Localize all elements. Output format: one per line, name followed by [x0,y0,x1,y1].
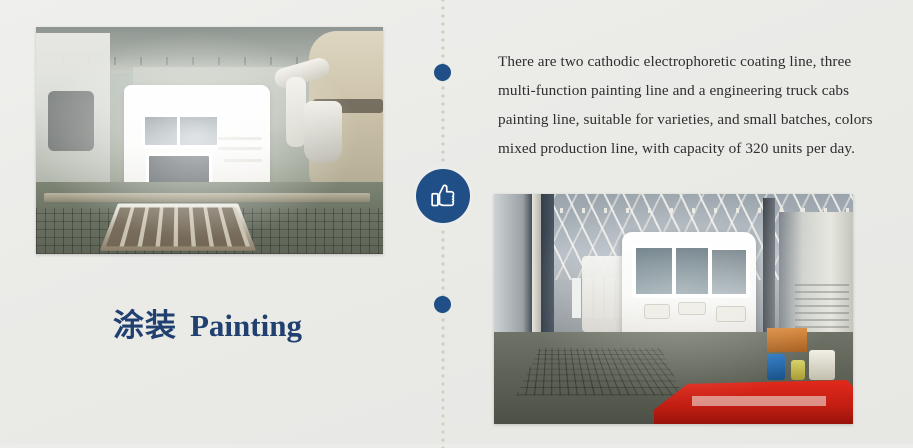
description-paragraph: There are two cathodic electrophoretic c… [498,47,890,163]
slide-canvas: There are two cathodic electrophoretic c… [0,0,913,444]
booth-paint-haze [36,27,383,254]
timeline-dot-top [434,64,451,81]
thumbs-up-badge[interactable] [416,169,470,223]
page-title-english: Painting [190,308,302,343]
timeline-dot-bottom [434,296,451,313]
right-photo-scene [494,194,853,424]
thumbs-up-icon [428,181,458,211]
page-title: 涂装Painting [113,300,302,345]
left-photo-scene [36,27,383,254]
page-title-chinese: 涂装 [113,308,177,343]
painting-line-photo [494,194,853,424]
painting-booth-photo [36,27,383,254]
workshop-light-haze [494,194,853,424]
